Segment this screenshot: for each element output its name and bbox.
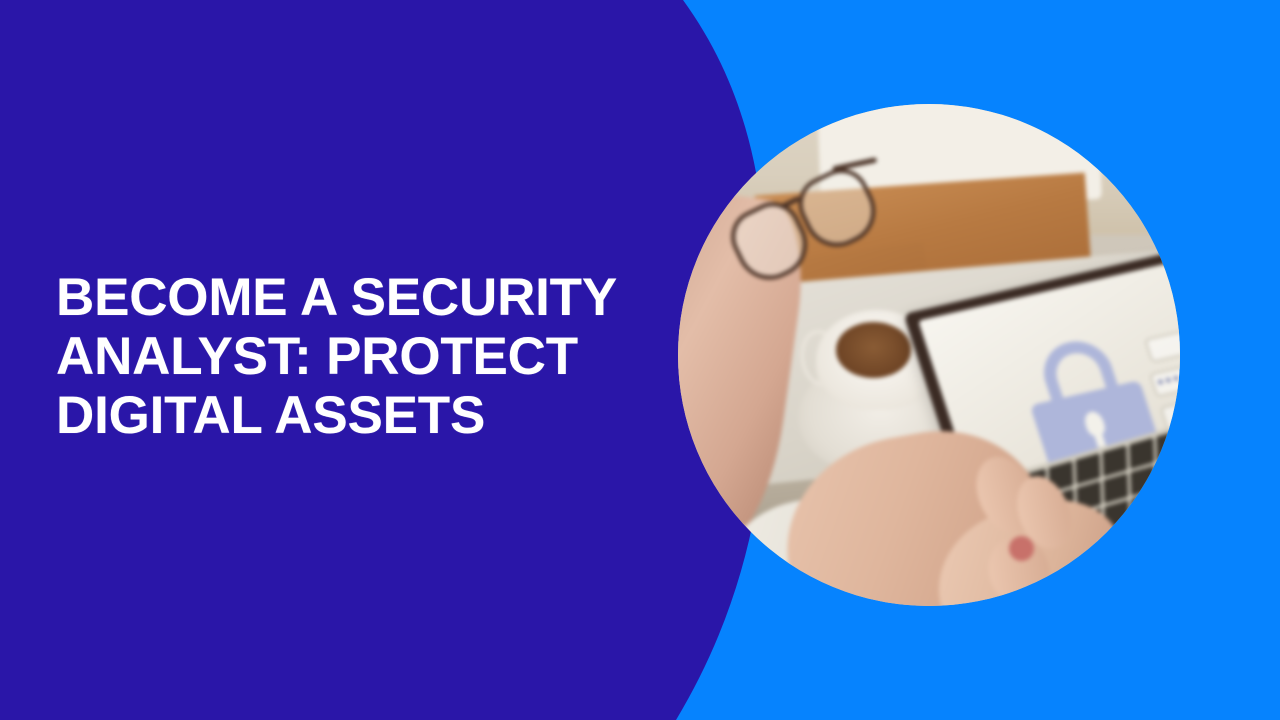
keyboard-key bbox=[1132, 521, 1157, 552]
keyboard-key bbox=[1159, 513, 1180, 544]
page-title: BECOME A SECURITY ANALYST: PROTECT DIGIT… bbox=[56, 268, 636, 445]
hero-photo-circle bbox=[678, 104, 1180, 606]
password-dot bbox=[1173, 376, 1179, 382]
keyboard-key bbox=[1160, 541, 1180, 572]
coffee-liquid bbox=[836, 322, 911, 377]
password-dot bbox=[1157, 379, 1163, 385]
keyboard-key bbox=[1133, 548, 1158, 579]
banner-root: BECOME A SECURITY ANALYST: PROTECT DIGIT… bbox=[0, 0, 1280, 720]
keyboard-key bbox=[1129, 438, 1154, 469]
password-dot bbox=[1165, 377, 1171, 383]
keyboard-key bbox=[1156, 430, 1180, 461]
keyboard-key bbox=[1075, 454, 1100, 485]
keyboard-key bbox=[1130, 466, 1155, 497]
keyboard-key bbox=[1103, 473, 1128, 504]
screen-username-field bbox=[1144, 326, 1180, 363]
keyboard-key bbox=[1157, 458, 1180, 489]
keyboard-key bbox=[1102, 446, 1127, 477]
keyboard-key bbox=[1158, 486, 1180, 517]
hero-photo bbox=[678, 104, 1180, 606]
keyboard-key bbox=[1131, 493, 1156, 524]
